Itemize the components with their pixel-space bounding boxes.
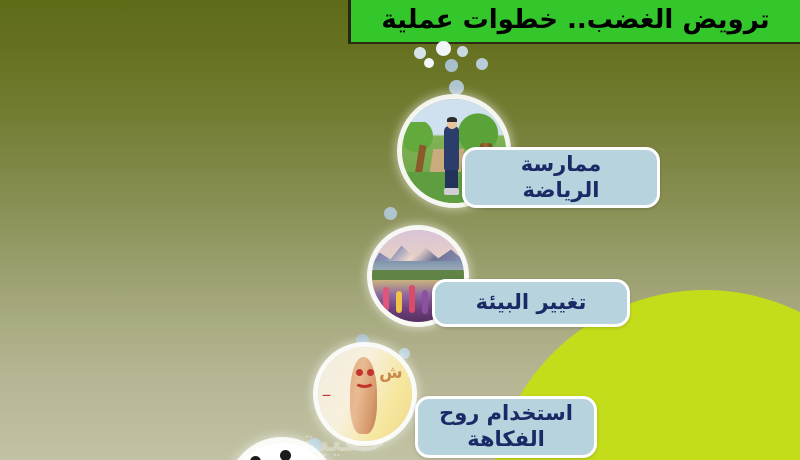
flower-spike bbox=[383, 287, 389, 311]
decorative-bubble bbox=[445, 59, 458, 72]
finger-smiley-face-photo: ش ــ bbox=[318, 347, 412, 441]
finger-shape bbox=[350, 357, 377, 434]
background-scribble-right: ش bbox=[379, 363, 402, 383]
flower-spike bbox=[396, 291, 402, 313]
step-3-photo-circle: ش ــ bbox=[318, 347, 412, 441]
step-1-label-box: ممارسة الرياضة bbox=[462, 147, 660, 208]
white-spotted-ball-photo bbox=[232, 442, 332, 460]
ball-spot bbox=[280, 450, 291, 460]
background-scribble-left: ــ bbox=[323, 385, 331, 400]
person-hair-shape bbox=[447, 117, 457, 122]
decorative-bubble bbox=[449, 80, 464, 95]
step-2-label: تغيير البيئة bbox=[466, 290, 597, 316]
step-2-label-box: تغيير البيئة bbox=[432, 279, 630, 327]
step-1-label: ممارسة الرياضة bbox=[511, 152, 611, 203]
slide-title-banner: ترويض الغضب.. خطوات عملية bbox=[348, 0, 800, 44]
step-3-label: استخدام روح الفكاهة bbox=[429, 401, 583, 452]
slide-title: ترويض الغضب.. خطوات عملية bbox=[381, 7, 769, 36]
decorative-bubble bbox=[414, 47, 426, 59]
step-4-photo-circle bbox=[232, 442, 332, 460]
flower-spike bbox=[422, 290, 428, 314]
decorative-bubble bbox=[424, 58, 434, 68]
decorative-bubble bbox=[457, 46, 468, 57]
flower-spike bbox=[409, 285, 415, 313]
step-3-label-box: استخدام روح الفكاهة bbox=[415, 396, 597, 458]
person-shoes-shape bbox=[444, 188, 460, 194]
person-body-shape bbox=[444, 126, 460, 170]
decorative-bubble bbox=[384, 207, 397, 220]
ball-spot bbox=[250, 456, 261, 460]
decorative-bubble bbox=[436, 41, 451, 56]
presentation-slide: حقيبة ترويض الغضب.. خطوات عملية ممارسة ا… bbox=[0, 0, 800, 460]
decorative-bubble bbox=[476, 58, 488, 70]
decorative-bubble bbox=[356, 334, 369, 347]
